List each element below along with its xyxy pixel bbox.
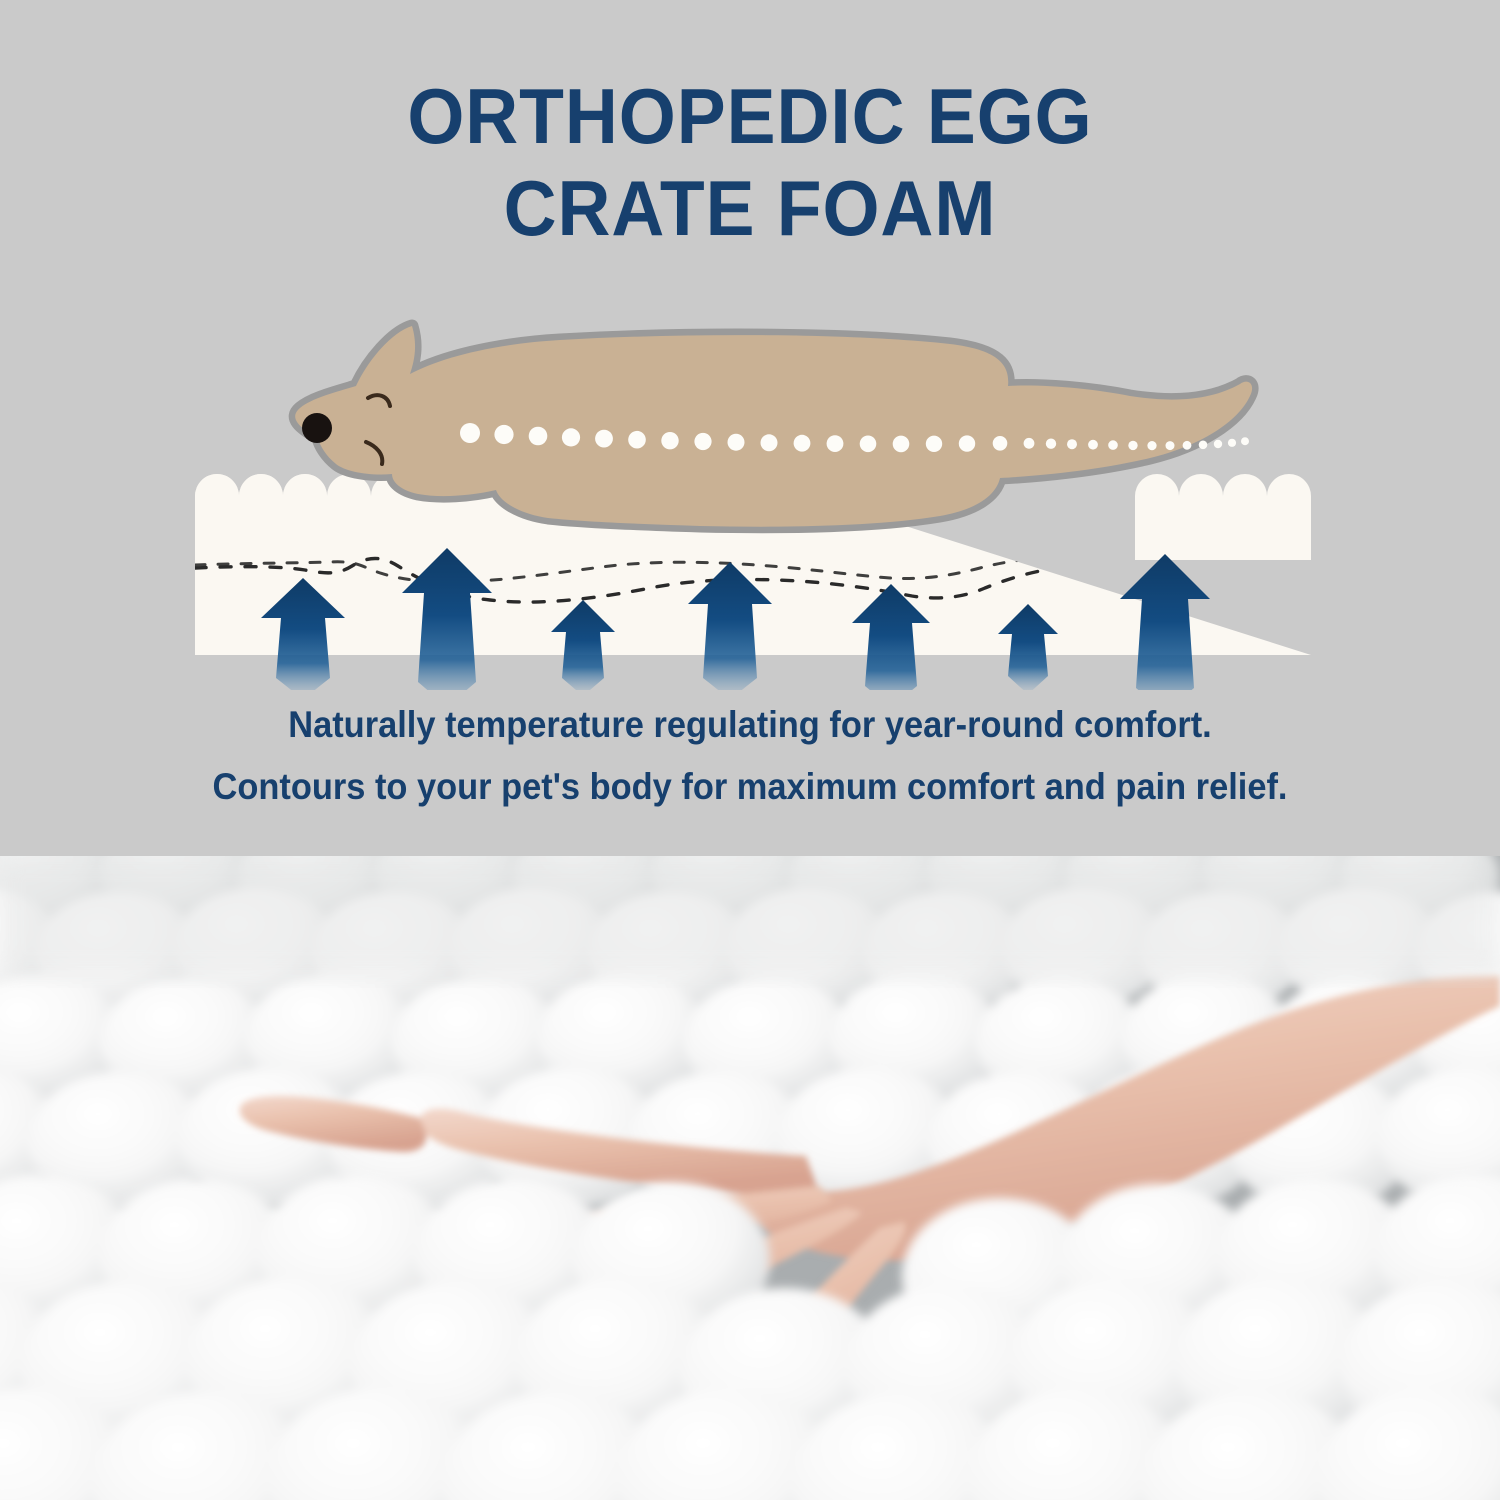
caption-block: Naturally temperature regulating for yea… bbox=[53, 694, 1448, 818]
infographic-panel: ORTHOPEDIC EGG CRATE FOAM bbox=[0, 0, 1500, 856]
foam-cross-section-illustration bbox=[0, 300, 1500, 690]
caption-line-2: Contours to your pet's body for maximum … bbox=[53, 756, 1448, 818]
headline-line-2: CRATE FOAM bbox=[45, 162, 1455, 254]
sleeping-dog-silhouette bbox=[295, 326, 1252, 527]
foam-bump-field-foreground bbox=[0, 1174, 1500, 1500]
caption-line-1: Naturally temperature regulating for yea… bbox=[53, 694, 1448, 756]
dog-nose bbox=[302, 413, 332, 443]
product-infographic-page: ORTHOPEDIC EGG CRATE FOAM bbox=[0, 0, 1500, 1500]
foam-photo-panel bbox=[0, 856, 1500, 1500]
page-title: ORTHOPEDIC EGG CRATE FOAM bbox=[45, 70, 1455, 254]
headline-line-1: ORTHOPEDIC EGG bbox=[45, 70, 1455, 162]
photo-top-haze bbox=[0, 856, 1500, 976]
hand-pressing-foam-photo bbox=[0, 856, 1500, 1500]
